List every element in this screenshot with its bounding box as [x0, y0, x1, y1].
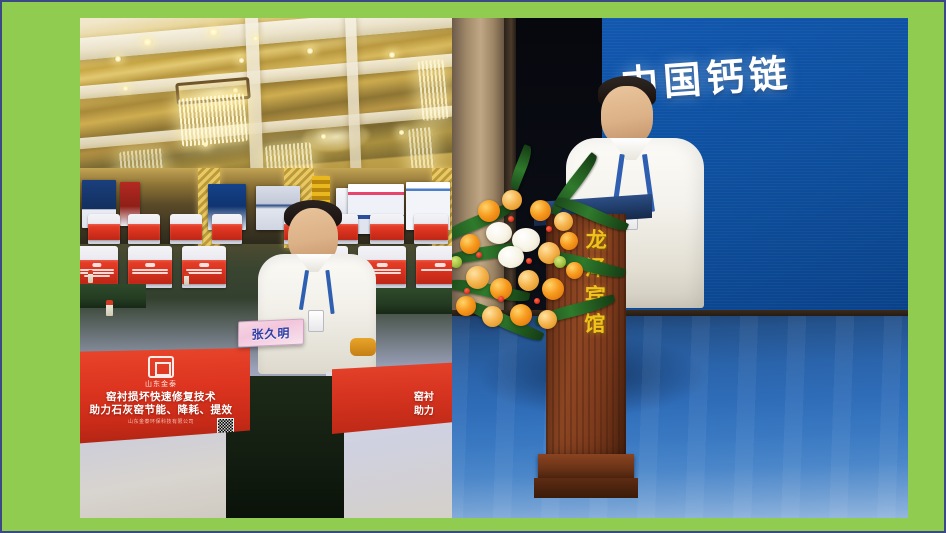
- chair-banner-line: [132, 269, 167, 271]
- chair-banner: [80, 260, 118, 284]
- chair-banner-logo: [199, 263, 209, 267]
- orange-chrysanthemum: [460, 234, 480, 254]
- chair-banner-logo: [377, 263, 388, 267]
- ceiling-spotlight-icon: [306, 48, 314, 54]
- orange-rose: [482, 306, 503, 327]
- chair-banner: [416, 260, 452, 284]
- water-bottle: [88, 270, 93, 283]
- orange-rose: [502, 190, 522, 210]
- orange-chrysanthemum: [560, 232, 578, 250]
- red-berry: [498, 296, 504, 302]
- chair-banner: [128, 260, 172, 284]
- banner2-line-1: 窑衬: [414, 388, 434, 403]
- red-berry: [526, 258, 532, 264]
- chair-banner-line: [132, 272, 167, 274]
- banner-brand: 山东金泰: [80, 379, 250, 389]
- ceiling-spotlight-icon: [208, 28, 219, 36]
- podium-base: [538, 454, 634, 480]
- crystal-chandelier-icon: [178, 93, 248, 147]
- crystal-chandelier-icon: [417, 59, 448, 121]
- name-card[interactable]: 张久明: [238, 319, 304, 348]
- orange-rose: [554, 212, 573, 231]
- table-banner-secondary[interactable]: 窑衬 助力: [332, 362, 452, 434]
- head-table: 山东金泰 窑衬损坏快速修复技术 助力石灰窑节能、降耗、提效 山东金泰环保科技有限…: [80, 348, 452, 518]
- ceiling-spotlight-icon: [320, 134, 327, 139]
- ceiling-spotlight-icon: [114, 56, 122, 62]
- table-cloth: [80, 284, 146, 308]
- chair-banner-line: [186, 272, 221, 274]
- chair-banner-logo: [145, 263, 155, 267]
- orange-rose: [542, 278, 564, 300]
- photo-right-stage-podium[interactable]: 中国钙链 龙 泽: [452, 18, 908, 518]
- photo-left-banquet-hall[interactable]: 山东金泰 窑衬损坏快速修复技术 助力石灰窑节能、降耗、提效 山东金泰环保科技有限…: [80, 18, 452, 518]
- slide-canvas: 山东金泰 窑衬损坏快速修复技术 助力石灰窑节能、降耗、提效 山东金泰环保科技有限…: [0, 0, 946, 533]
- photo-collage: 山东金泰 窑衬损坏快速修复技术 助力石灰窑节能、降耗、提效 山东金泰环保科技有限…: [80, 18, 908, 518]
- chair-banner: [414, 224, 448, 240]
- company-logo-icon: [148, 356, 174, 378]
- flower-arrangement: [452, 138, 632, 358]
- banner-line-2: 助力石灰窑节能、降耗、提效: [80, 402, 250, 417]
- red-berry: [464, 288, 470, 294]
- ceiling-spotlight-icon: [252, 36, 259, 41]
- orange-rose: [538, 310, 557, 329]
- chair-banner-logo: [92, 263, 101, 267]
- chair-banner-line: [80, 272, 114, 274]
- ceiling-spotlight-icon: [122, 86, 129, 91]
- orange-rose: [478, 200, 500, 222]
- chair-banner: [212, 224, 242, 240]
- podium-plinth: [534, 478, 638, 498]
- ceiling-spotlight-icon: [398, 130, 405, 135]
- table-banner-primary[interactable]: 山东金泰 窑衬损坏快速修复技术 助力石灰窑节能、降耗、提效 山东金泰环保科技有限…: [80, 348, 250, 444]
- table-cloth: [370, 288, 452, 314]
- orange-rose: [530, 200, 551, 221]
- orange-rose: [518, 270, 539, 291]
- white-lily: [486, 222, 512, 244]
- ceiling-spotlight-icon: [388, 52, 396, 58]
- red-berry: [476, 252, 482, 258]
- banner2-line-2: 助力: [414, 402, 434, 417]
- orange-rose: [466, 266, 489, 289]
- badge-card: [308, 310, 324, 332]
- orange-chrysanthemum: [510, 304, 532, 326]
- chair-banner-line: [80, 269, 114, 271]
- chair-banner-logo: [435, 263, 446, 267]
- orange-chrysanthemum: [456, 296, 476, 316]
- chair-banner-line: [421, 269, 452, 271]
- ceiling-spotlight-icon: [142, 38, 153, 46]
- red-berry: [546, 226, 552, 232]
- name-card-text: 张久明: [251, 324, 290, 343]
- green-bud: [452, 256, 462, 268]
- orange-chrysanthemum: [566, 262, 583, 279]
- ceiling-spotlight-icon: [238, 58, 245, 63]
- red-berry: [534, 298, 540, 304]
- red-berry: [508, 216, 514, 222]
- face: [601, 86, 653, 146]
- chair-banner: [128, 224, 160, 240]
- palm-frond: [507, 144, 534, 191]
- chair-banner: [88, 224, 120, 240]
- chair-banner-line: [186, 269, 221, 271]
- water-bottle: [106, 300, 113, 316]
- green-bud: [554, 256, 566, 268]
- water-bottle: [184, 272, 189, 285]
- chair-banner: [170, 224, 202, 240]
- white-lily: [498, 246, 524, 268]
